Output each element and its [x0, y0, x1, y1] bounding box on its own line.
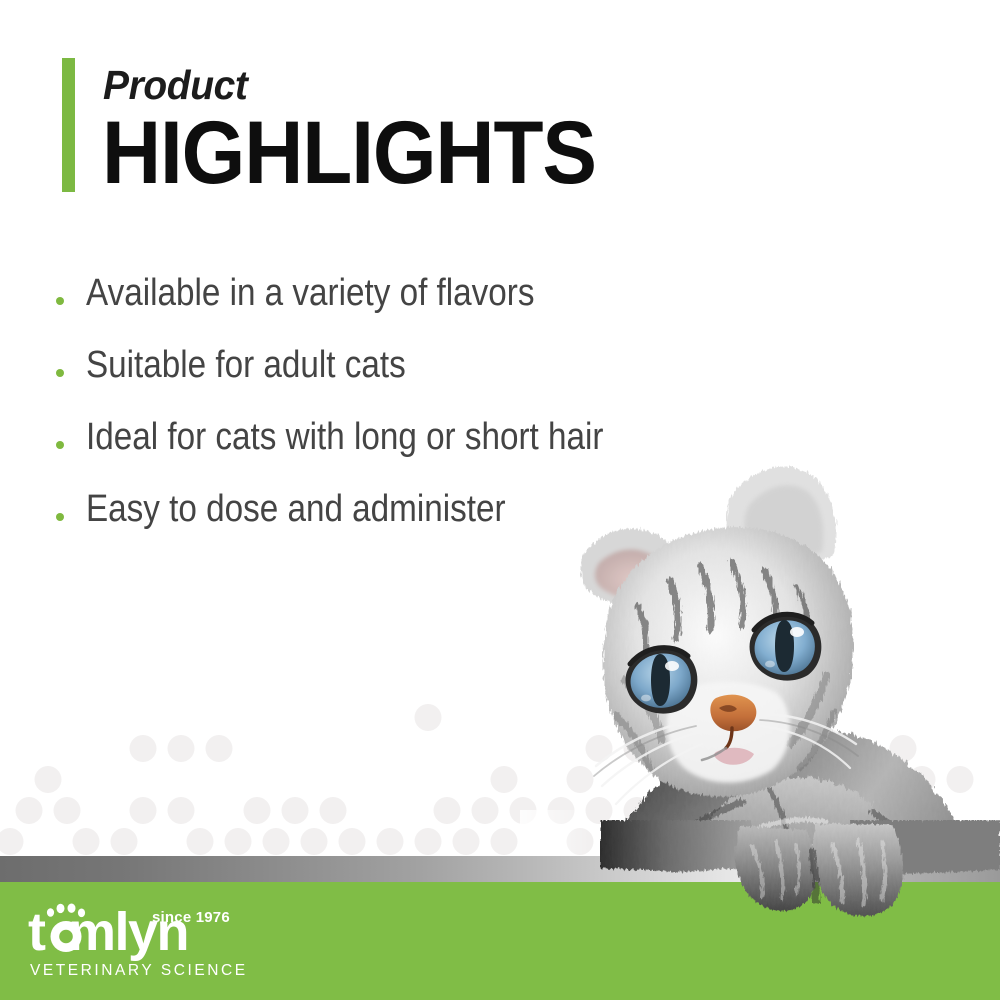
logo-since-text: since 1976 [152, 909, 230, 926]
logo-tagline: VETERINARY SCIENCE [30, 962, 248, 979]
list-item: Suitable for adult cats [56, 344, 856, 416]
bullet-dot-icon [56, 297, 64, 305]
bullet-dot-icon [56, 441, 64, 449]
bullet-dot-icon [56, 513, 64, 521]
list-item: Available in a variety of flavors [56, 272, 856, 344]
tomlyn-logo-svg: t mlyn since 1976 VETERINARY SCIENCE [28, 896, 258, 982]
header-eyebrow: Product [103, 65, 247, 106]
logo-wordmark-t: t [28, 902, 46, 962]
bullet-dot-icon [56, 369, 64, 377]
page-title: HIGHLIGHTS [102, 108, 596, 197]
product-highlights-graphic: Product HIGHLIGHTS Available in a variet… [0, 0, 1000, 1000]
list-item-label: Suitable for adult cats [86, 344, 406, 387]
cat-eye-right [750, 614, 822, 680]
list-item-label: Easy to dose and administer [86, 488, 506, 531]
metallic-divider-band [0, 856, 1000, 882]
cat-eye-left [626, 648, 698, 714]
list-item-label: Available in a variety of flavors [86, 272, 534, 315]
page-header: Product HIGHLIGHTS [62, 56, 762, 196]
green-accent-bar [62, 58, 75, 192]
brand-logo[interactable]: t mlyn since 1976 VETERINARY SCIENCE [28, 896, 258, 982]
logo-o-ring [51, 921, 82, 952]
